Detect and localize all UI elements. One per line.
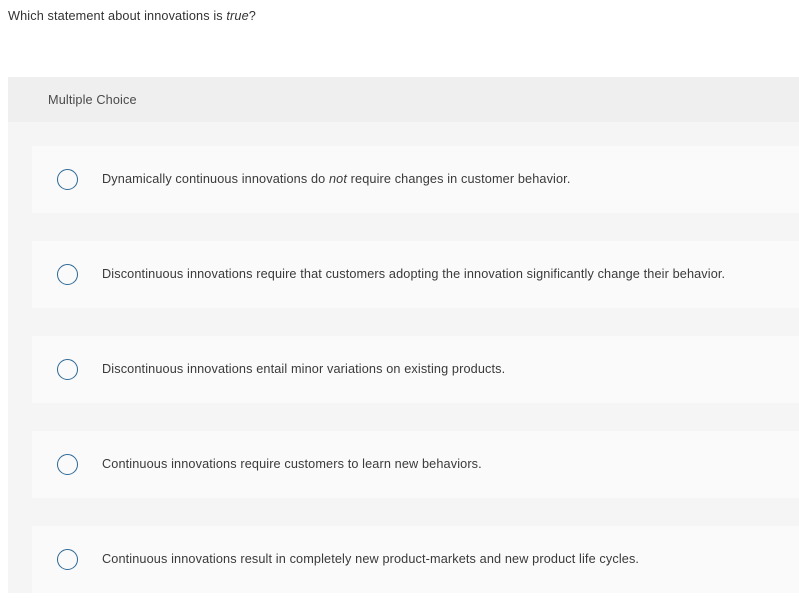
option-label: Discontinuous innovations entail minor v… — [102, 361, 515, 378]
radio-button-icon[interactable] — [57, 454, 78, 475]
radio-button-icon[interactable] — [57, 359, 78, 380]
option-italic-word: not — [329, 172, 347, 186]
question-italic-word: true — [226, 9, 248, 23]
radio-wrap[interactable] — [32, 549, 102, 570]
card-header: Multiple Choice — [8, 77, 799, 122]
option-row[interactable]: Discontinuous innovations entail minor v… — [32, 336, 799, 403]
option-text-part-1: Dynamically continuous innovations do — [102, 172, 329, 186]
radio-button-icon[interactable] — [57, 549, 78, 570]
question-text-part-2: ? — [249, 9, 256, 23]
radio-wrap[interactable] — [32, 169, 102, 190]
answer-card: Multiple Choice Dynamically continuous i… — [8, 77, 799, 593]
option-text-part-2: require changes in customer behavior. — [347, 172, 570, 186]
option-text-part-1: Continuous innovations require customers… — [102, 457, 482, 471]
radio-wrap[interactable] — [32, 454, 102, 475]
option-text-part-1: Discontinuous innovations require that c… — [102, 267, 725, 281]
question-type-label: Multiple Choice — [48, 93, 137, 107]
question-text-part-1: Which statement about innovations is — [8, 9, 226, 23]
option-label: Continuous innovations result in complet… — [102, 551, 649, 568]
option-row[interactable]: Discontinuous innovations require that c… — [32, 241, 799, 308]
option-row[interactable]: Continuous innovations require customers… — [32, 431, 799, 498]
radio-button-icon[interactable] — [57, 264, 78, 285]
option-label: Discontinuous innovations require that c… — [102, 266, 735, 283]
option-text-part-1: Continuous innovations result in complet… — [102, 552, 639, 566]
radio-wrap[interactable] — [32, 359, 102, 380]
option-text-part-1: Discontinuous innovations entail minor v… — [102, 362, 505, 376]
option-row[interactable]: Dynamically continuous innovations do no… — [32, 146, 799, 213]
radio-button-icon[interactable] — [57, 169, 78, 190]
radio-wrap[interactable] — [32, 264, 102, 285]
option-label: Dynamically continuous innovations do no… — [102, 171, 580, 188]
option-label: Continuous innovations require customers… — [102, 456, 492, 473]
question-prompt: Which statement about innovations is tru… — [0, 0, 799, 25]
option-row[interactable]: Continuous innovations result in complet… — [32, 526, 799, 593]
options-list: Dynamically continuous innovations do no… — [8, 122, 799, 593]
